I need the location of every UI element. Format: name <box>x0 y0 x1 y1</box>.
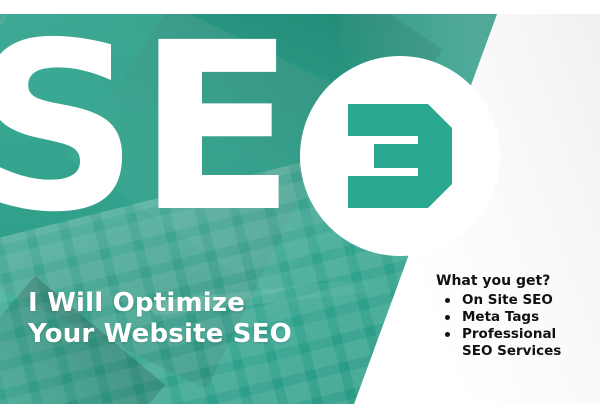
benefits-list: On Site SEO Meta Tags Professional SEO S… <box>436 292 561 360</box>
list-item: On Site SEO <box>436 292 561 309</box>
benefits-block: What you get? On Site SEO Meta Tags Prof… <box>436 272 561 360</box>
tagline: I Will Optimize Your Website SEO <box>28 288 292 350</box>
seo-service-banner: SE I Will Optimize Your Website SEO What… <box>0 0 600 404</box>
seo-logo-o-disc <box>300 56 500 256</box>
reversed-c-icon <box>344 100 456 212</box>
list-item-label: On Site SEO <box>462 292 553 308</box>
bullet-icon <box>445 298 450 303</box>
list-item: Professional SEO Services <box>436 326 561 360</box>
tagline-line-1: I Will Optimize <box>28 288 292 319</box>
bullet-icon <box>445 315 450 320</box>
tagline-line-2: Your Website SEO <box>28 319 292 350</box>
list-item-label: Professional <box>462 326 556 342</box>
benefits-title: What you get? <box>436 272 561 290</box>
list-item-sublabel: SEO Services <box>462 343 561 360</box>
bullet-icon <box>445 332 450 337</box>
list-item: Meta Tags <box>436 309 561 326</box>
list-item-label: Meta Tags <box>462 309 539 325</box>
seo-logotype: SE <box>0 28 294 228</box>
